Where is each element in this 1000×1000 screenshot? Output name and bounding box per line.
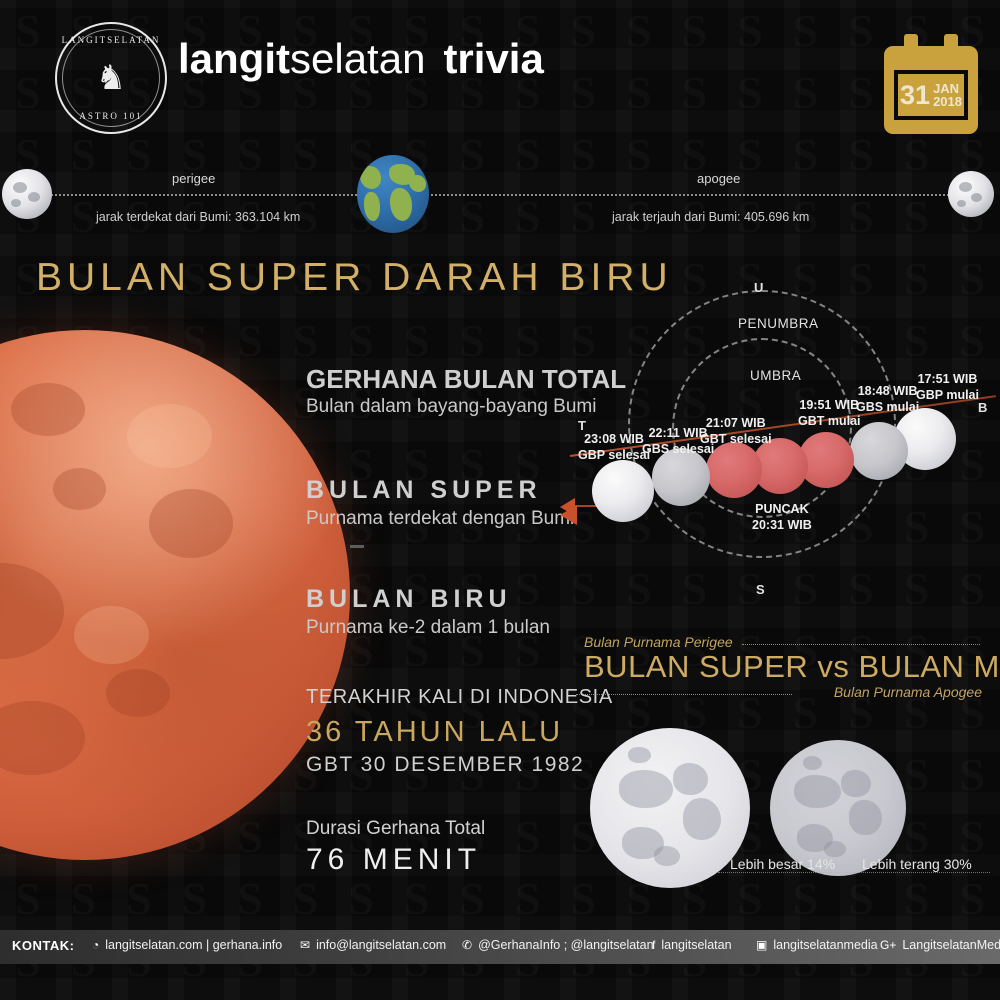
comparison-top-caption: Bulan Purnama Perigee	[584, 634, 733, 650]
duration-value: 76 MENIT	[306, 843, 481, 877]
rss-icon: ◔	[92, 939, 99, 951]
phase-event-1: GBP selesai	[578, 448, 650, 464]
phase-time-4: 19:51 WIB	[798, 398, 861, 414]
footer-instagram-text: langitselatanmedia	[773, 938, 877, 952]
feature-heading-supermoon: BULAN SUPER	[306, 476, 542, 505]
brand-langit: langit	[178, 35, 290, 82]
eclipse-moon-3	[706, 442, 762, 498]
footer-instagram[interactable]: ▣ langitselatanmedia	[756, 938, 878, 952]
footer-googleplus[interactable]: G+ LangitselatanMedia	[880, 938, 1000, 952]
twitter-icon: ✆	[462, 939, 472, 951]
google-plus-icon: G+	[880, 939, 896, 951]
last-time-label: TERAKHIR KALI DI INDONESIA	[306, 686, 613, 709]
footer-twitter-text: @GerhanaInfo ; @langitselatan	[478, 938, 653, 952]
cardinal-south-label: S	[756, 582, 765, 597]
phase-time-6: 17:51 WIB	[916, 372, 979, 388]
caption-brighter: Lebih terang 30%	[862, 856, 972, 872]
phase-label-4: 19:51 WIB GBT mulai	[798, 398, 861, 429]
phase-time-3: 21:07 WIB	[700, 416, 772, 432]
peak-label: PUNCAK	[752, 502, 812, 518]
brand-selatan: selatan	[290, 35, 425, 82]
cardinal-north-label: U	[754, 280, 763, 295]
last-time-detail: GBT 30 DESEMBER 1982	[306, 753, 584, 777]
kontak-label: KONTAK:	[12, 938, 74, 953]
footer-website[interactable]: ◔ langitselatan.com | gerhana.info	[92, 938, 282, 952]
caption-bigger: Lebih besar 14%	[730, 856, 835, 872]
perigee-distance: jarak terdekat dari Bumi: 363.104 km	[96, 210, 300, 224]
phase-label-1: 23:08 WIB GBP selesai	[578, 432, 650, 463]
phase-label-3: 21:07 WIB GBT selesai	[700, 416, 772, 447]
cardinal-west-label: T	[578, 418, 586, 433]
phase-label-6: 17:51 WIB GBP mulai	[916, 372, 979, 403]
last-time-value: 36 TAHUN LALU	[306, 716, 563, 749]
footer-googleplus-text: LangitselatanMedia	[902, 938, 1000, 952]
peak-time: 20:31 WIB	[752, 518, 812, 534]
phase-event-5: GBS mulai	[856, 400, 919, 416]
orbit-dotted-line	[20, 194, 980, 196]
envelope-icon: ✉	[300, 939, 310, 951]
infographic-canvas: SSSSSSSSSSSSSSSSSS SSSSSSSSSSSSSSSSSS SS…	[0, 0, 1000, 1000]
phase-label-5: 18:48 WIB GBS mulai	[856, 384, 919, 415]
perigee-apogee-diagram: perigee jarak terdekat dari Bumi: 363.10…	[0, 155, 1000, 250]
comparison-bottom-caption: Bulan Purnama Apogee	[834, 684, 982, 700]
calendar-month: JAN	[933, 82, 962, 95]
brand-trivia: trivia	[443, 35, 543, 82]
phase-event-3: GBT selesai	[700, 432, 772, 448]
footer-twitter[interactable]: ✆ @GerhanaInfo ; @langitselatan	[462, 938, 654, 952]
super-vs-mini-section: Bulan Purnama Perigee BULAN SUPER vs BUL…	[570, 630, 990, 900]
umbra-label: UMBRA	[750, 368, 801, 383]
calendar-inner: 31 JAN 2018	[894, 70, 968, 120]
apogee-label: apogee	[697, 171, 740, 186]
horse-rider-icon: ♞	[96, 61, 126, 95]
footer-email[interactable]: ✉ info@langitselatan.com	[300, 938, 446, 952]
instagram-icon: ▣	[756, 939, 767, 951]
footer-facebook-text: langitselatan	[661, 938, 731, 952]
calendar-date-plate: 31 JAN 2018	[898, 74, 964, 116]
phase-time-5: 18:48 WIB	[856, 384, 919, 400]
phase-event-4: GBT mulai	[798, 414, 861, 430]
phase-event-6: GBP mulai	[916, 388, 979, 404]
footer-facebook[interactable]: f langitselatan	[652, 938, 732, 952]
apogee-distance: jarak terjauh dari Bumi: 405.696 km	[612, 210, 809, 224]
peak-label-group: PUNCAK 20:31 WIB	[752, 502, 812, 533]
penumbra-label: PENUMBRA	[738, 316, 819, 331]
langitselatan-logo-seal: LANGITSELATAN ♞ ASTRO 101	[55, 22, 167, 134]
blood-moon-image	[0, 330, 350, 860]
apogee-moon-icon	[948, 171, 994, 217]
perigee-moon-icon	[2, 169, 52, 219]
duration-label: Durasi Gerhana Total	[306, 818, 485, 840]
comparison-title: BULAN SUPER vs BULAN MINI	[584, 649, 1000, 685]
comparison-caption-rule	[718, 872, 990, 873]
calendar-year: 2018	[933, 95, 962, 108]
header: LANGITSELATAN ♞ ASTRO 101 langitselatant…	[0, 0, 1000, 150]
earth-globe-icon	[357, 155, 429, 233]
feature-sub-total-eclipse: Bulan dalam bayang-bayang Bumi	[306, 396, 596, 418]
feature-heading-bluemoon: BULAN BIRU	[306, 585, 512, 614]
footer-website-text: langitselatan.com | gerhana.info	[105, 938, 282, 952]
facebook-icon: f	[652, 939, 655, 951]
calendar-month-year: JAN 2018	[933, 82, 962, 109]
eclipse-moon-5	[850, 422, 908, 480]
seal-top-text: LANGITSELATAN	[57, 35, 165, 45]
calendar-body: 31 JAN 2018	[884, 46, 978, 134]
comparison-top-rule	[742, 644, 980, 645]
cardinal-east-label: B	[978, 400, 987, 415]
supermoon-illustration	[590, 728, 750, 888]
feature-sub-bluemoon: Purnama ke-2 dalam 1 bulan	[306, 617, 550, 639]
footer-email-text: info@langitselatan.com	[316, 938, 446, 952]
seal-bottom-text: ASTRO 101	[57, 111, 165, 121]
comparison-bottom-rule	[576, 694, 792, 695]
perigee-label: perigee	[172, 171, 215, 186]
moon-path-arrow-icon	[560, 505, 577, 525]
phase-time-1: 23:08 WIB	[578, 432, 650, 448]
eclipse-path-diagram: U S T B PENUMBRA UMBRA 23:08 WIB GBP sel…	[560, 280, 1000, 610]
calendar-day: 31	[900, 82, 930, 109]
divider-dash	[350, 545, 364, 548]
brand-title: langitselatantrivia	[178, 38, 544, 80]
calendar-icon: 31 JAN 2018	[884, 34, 978, 134]
feature-sub-supermoon: Purnama terdekat dengan Bumi	[306, 508, 574, 530]
eclipse-moon-1	[592, 460, 654, 522]
